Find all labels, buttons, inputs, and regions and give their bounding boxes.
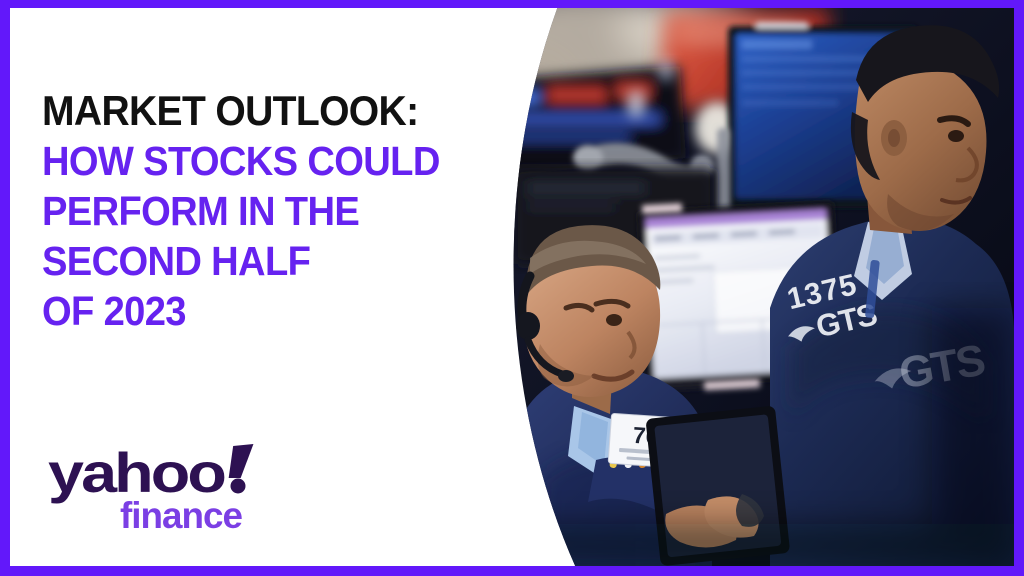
- logo-exclamation-icon: [229, 444, 254, 494]
- thumbnail-canvas: 1375 GTS GTS: [10, 8, 1014, 566]
- headline-line-3: PERFORM IN THE: [42, 186, 507, 236]
- logo-subbrand: finance: [120, 495, 242, 536]
- trading-floor-photo: 1375 GTS GTS: [470, 8, 1014, 566]
- headline-line-2: HOW STOCKS COULD: [42, 136, 507, 186]
- headline-line-1: MARKET OUTLOOK:: [42, 86, 507, 136]
- yahoo-finance-logo: yahoo finance: [48, 440, 308, 536]
- video-thumbnail: 1375 GTS GTS: [0, 0, 1024, 576]
- headline: MARKET OUTLOOK: HOW STOCKS COULD PERFORM…: [42, 86, 542, 336]
- trading-floor-photo-artwork: 1375 GTS GTS: [470, 8, 1014, 566]
- headline-line-4: SECOND HALF: [42, 236, 507, 286]
- yahoo-finance-logo-artwork: yahoo finance: [48, 440, 308, 536]
- headline-line-5: OF 2023: [42, 286, 507, 336]
